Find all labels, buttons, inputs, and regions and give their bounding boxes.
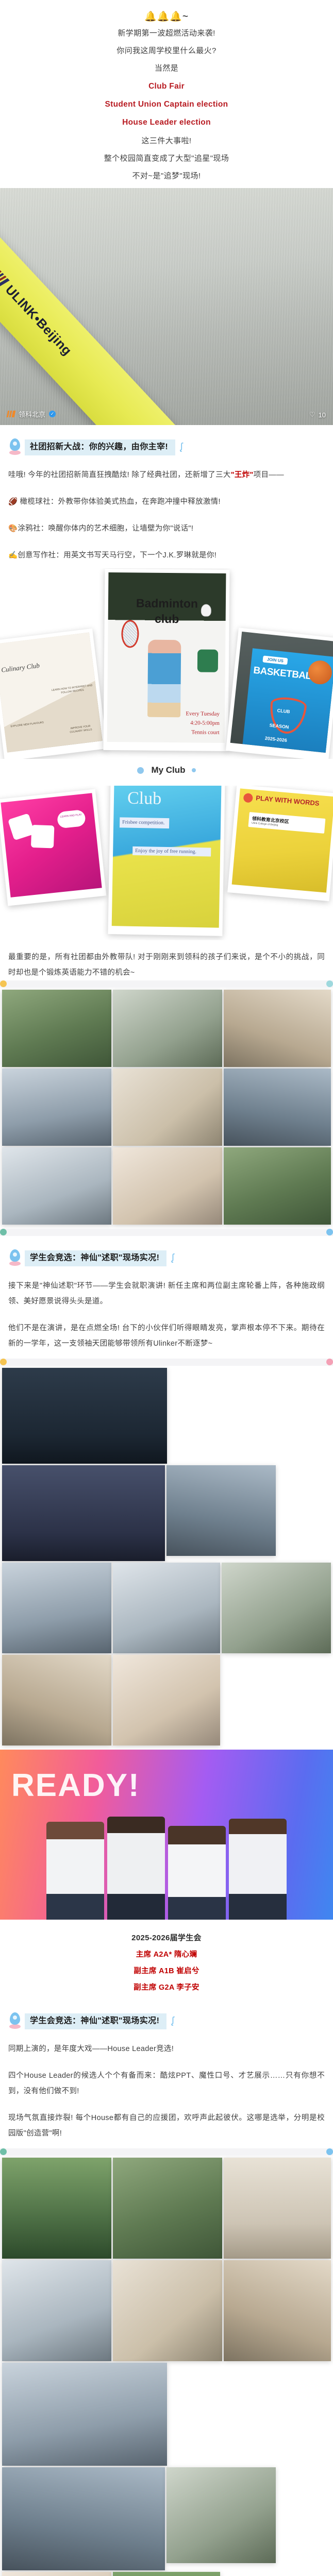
intro-block: 🔔🔔🔔~ 新学期第一波超燃活动来袭! 你问我这周学校里什么最火? 当然是 Clu…: [0, 0, 333, 188]
intro-line-1: 新学期第一波超燃活动来袭!: [21, 25, 312, 42]
article-page: 🔔🔔🔔~ 新学期第一波超燃活动来袭! 你问我这周学校里什么最火? 当然是 Clu…: [0, 0, 333, 2576]
account-logo-icon: [7, 411, 16, 417]
like-count: 10: [319, 411, 326, 419]
highlight-house-election: House Leader election: [21, 113, 312, 131]
verified-badge-icon: ✓: [49, 411, 56, 417]
photo-thumb: [166, 1465, 276, 1556]
photo-thumb: [113, 2158, 222, 2259]
photo-thumb: [113, 2260, 222, 2361]
paragraph-closing: 最重要的是，所有社团都由外教带队! 对于刚刚来到领科的孩子们来说，是个不小的挑战…: [8, 950, 325, 980]
intro-line-3: 当然是: [21, 60, 312, 77]
player-figure: [147, 640, 181, 718]
poster-running: Club Frisbee competition. Enjoy the joy …: [108, 786, 225, 936]
club-emblem-icon: [197, 650, 218, 672]
photo-thumb: [113, 1147, 222, 1225]
shuttlecock-icon: [201, 604, 211, 617]
photo-thumb: [113, 1563, 220, 1653]
photo-grid-student-union: [0, 1366, 333, 1750]
paragraph-hl-1: 同期上演的，是年度大戏——House Leader竞选!: [8, 2041, 325, 2057]
house-leader-body: 同期上演的，是年度大戏——House Leader竞选! 四个House Lea…: [0, 2035, 333, 2141]
photo-thumb: [113, 2572, 220, 2576]
student-figure: [107, 1817, 165, 1920]
photo-grid-club-fair: [0, 988, 333, 1229]
intro-line-4: 这三件大事啦!: [21, 132, 312, 150]
photo-thumb: [2, 990, 111, 1067]
roster-line: 主席 A2A* 隋心斓: [8, 1946, 325, 1963]
photo-thumb: [2, 2260, 111, 2361]
photo-thumb: [113, 1069, 222, 1146]
student-figure: [229, 1819, 287, 1920]
photo-thumb: [2, 1368, 167, 1464]
section-header-house-leader: 学生会竞选：神仙"述职"现场实况! ᶘ: [0, 1999, 333, 2035]
like-counter[interactable]: ♡ 10: [309, 411, 326, 419]
photo-thumb: [2, 2363, 167, 2466]
poster-culinary: Culinary Club LEARN HOW TO INTERPRET AND…: [0, 629, 107, 759]
poster-wordplay: PLAY WITH WORDS 领科教育北京校区 Ulink College o…: [227, 786, 333, 901]
boardgame-tag: LEARN AND PLAY: [57, 809, 86, 828]
dice-icon-2: [31, 825, 55, 849]
dot-icon-left: [137, 767, 144, 774]
running-line-1: Frisbee competition.: [120, 817, 169, 828]
decorative-band-1: [0, 980, 333, 988]
student-union-roster: 2025-2026届学生会 主席 A2A* 隋心斓 副主席 A1B 崔启兮 副主…: [0, 1920, 333, 1999]
photo-thumb: [2, 1465, 165, 1561]
account-name: 领科北京: [19, 409, 45, 419]
bell-emoji: 🔔🔔🔔~: [21, 9, 312, 25]
racket-icon: [121, 620, 139, 648]
location-pin-icon: [8, 438, 22, 456]
badminton-time-1: Every Tuesday: [186, 710, 220, 717]
paragraph-su-2: 他们不是在演讲，是在点燃全场! 台下的小伙伴们听得眼睛发亮，掌声根本停不下来。期…: [8, 1320, 325, 1351]
ulink-logo-icon: [0, 267, 10, 287]
roster-line: 副主席 G2A 李子安: [8, 1979, 325, 1996]
my-club-caption-row: My Club: [0, 762, 333, 781]
ready-banner: READY!: [0, 1750, 333, 1920]
poster-badminton: Badminton club Every Tuesday 4:20-5:00pm…: [103, 569, 229, 751]
location-pin-icon: [8, 2012, 22, 2030]
photo-thumb: [2, 2467, 165, 2570]
running-title: Club: [127, 789, 162, 809]
photo-thumb: [222, 1563, 331, 1653]
paragraph-su-1: 接下来是"神仙述职"环节——学生会就职演讲! 新任主席和两位副主席轮番上阵，各种…: [8, 1278, 325, 1309]
ready-banner-text: READY!: [11, 1767, 140, 1804]
section-title: 学生会竞选：神仙"述职"现场实况!: [25, 1250, 166, 1266]
photo-thumb: [224, 990, 331, 1067]
swirl-icon: ᶘ: [172, 1252, 174, 1264]
student-union-body: 接下来是"神仙述职"环节——学生会就职演讲! 新任主席和两位副主席轮番上阵，各种…: [0, 1272, 333, 1351]
dot-icon-right: [192, 768, 196, 772]
highlight-club-fair: Club Fair: [21, 77, 312, 95]
wordplay-tag: PLAY WITH WORDS: [256, 794, 320, 807]
photo-thumb: [224, 1147, 331, 1225]
roster-title: 2025-2026届学生会: [8, 1930, 325, 1946]
swirl-icon: ᶘ: [180, 442, 182, 453]
roster-line: 副主席 A1B 崔启兮: [8, 1963, 325, 1979]
badminton-time-2: 4:20-5:00pm: [190, 720, 220, 726]
heart-icon: ♡: [309, 411, 315, 419]
photo-thumb: [2, 1563, 111, 1653]
section-header-student-union: 学生会竞选：神仙"述职"现场实况! ᶘ: [0, 1236, 333, 1272]
intro-line-5: 整个校园简直变成了大型"追星"现场: [21, 150, 312, 167]
student-figure: [46, 1822, 104, 1920]
my-club-caption: My Club: [151, 765, 185, 775]
photo-thumb: [224, 1069, 331, 1146]
students-row: [0, 1809, 333, 1920]
photo-thumb: [113, 990, 222, 1067]
paragraph-intro: 哇哦! 今年的社团招新简直狂拽酷炫! 除了经典社团，还新增了三大"王炸"项目——: [8, 467, 325, 483]
poster-basketball: JOIN US BASKETBALL CLUB SEASON 2025-2026: [226, 628, 333, 759]
club-fair-closing: 最重要的是，所有社团都由外教带队! 对于刚刚来到领科的孩子们来说，是个不小的挑战…: [0, 943, 333, 980]
running-line-2: Enjoy the joy of free running.: [132, 846, 211, 857]
paragraph-graffiti: 🎨涂鸦社：唤醒你体内的艺术细胞，让墙壁为你"说话"!: [8, 521, 325, 536]
photo-thumb: [2, 2572, 111, 2576]
student-figure: [168, 1826, 226, 1920]
badminton-time-3: Tennis court: [191, 729, 220, 735]
photo-thumb: [2, 2158, 111, 2259]
section-title: 社团招新大战：你的兴趣，由你主宰!: [25, 439, 175, 455]
club-poster-collage-2: LEARN AND PLAY Club Frisbee competition.…: [0, 786, 333, 940]
photo-thumb: [2, 1069, 111, 1146]
club-fair-body: 哇哦! 今年的社团招新简直狂拽酷炫! 除了经典社团，还新增了三大"王炸"项目——…: [0, 461, 333, 563]
decorative-band-3: [0, 1359, 333, 1366]
intro-line-6: 不对~是"追梦"现场!: [21, 167, 312, 185]
paragraph-hl-3: 现场气氛直接炸裂! 每个House都有自己的应援团，欢呼声此起彼伏。这哪是选举，…: [8, 2110, 325, 2141]
photo-thumb: [224, 2158, 331, 2259]
swirl-icon: ᶘ: [172, 2015, 174, 2027]
wordplay-bullet-icon: [243, 793, 254, 803]
paragraph-writing: ✍️创意写作社：用英文书写天马行空，下一个J.K.罗琳就是你!: [8, 548, 325, 563]
highlight-su-election: Student Union Captain election: [21, 95, 312, 113]
decorative-band-2: [0, 1229, 333, 1236]
intro-line-2: 你问我这周学校里什么最火?: [21, 42, 312, 60]
account-credit[interactable]: 领科北京 ✓: [7, 409, 56, 419]
photo-thumb: [2, 1655, 111, 1745]
decorative-band-4: [0, 2148, 333, 2156]
photo-thumb: [2, 1147, 111, 1225]
photo-thumb: [113, 1655, 220, 1745]
emphasis-wangzha: "王炸": [231, 471, 254, 479]
paragraph-football: 🏈 橄榄球社：外教带你体验美式热血，在奔跑冲撞中释放激情!: [8, 494, 325, 510]
photo-thumb: [166, 2467, 276, 2563]
hero-photo: ULINK•Beijing 领科北京 ✓ ♡ 10: [0, 188, 333, 425]
section-title: 学生会竞选：神仙"述职"现场实况!: [25, 2013, 166, 2029]
photo-grid-house-leader: [0, 2156, 333, 2576]
poster-boardgame: LEARN AND PLAY: [0, 789, 106, 906]
location-pin-icon: [8, 1249, 22, 1267]
club-poster-collage-1: Culinary Club LEARN HOW TO INTERPRET AND…: [0, 568, 333, 759]
paragraph-hl-2: 四个House Leader的候选人个个有备而来：酷炫PPT、魔性口号、才艺展示…: [8, 2068, 325, 2099]
photo-thumb: [224, 2260, 331, 2361]
section-header-club-fair: 社团招新大战：你的兴趣，由你主宰! ᶘ: [0, 425, 333, 461]
